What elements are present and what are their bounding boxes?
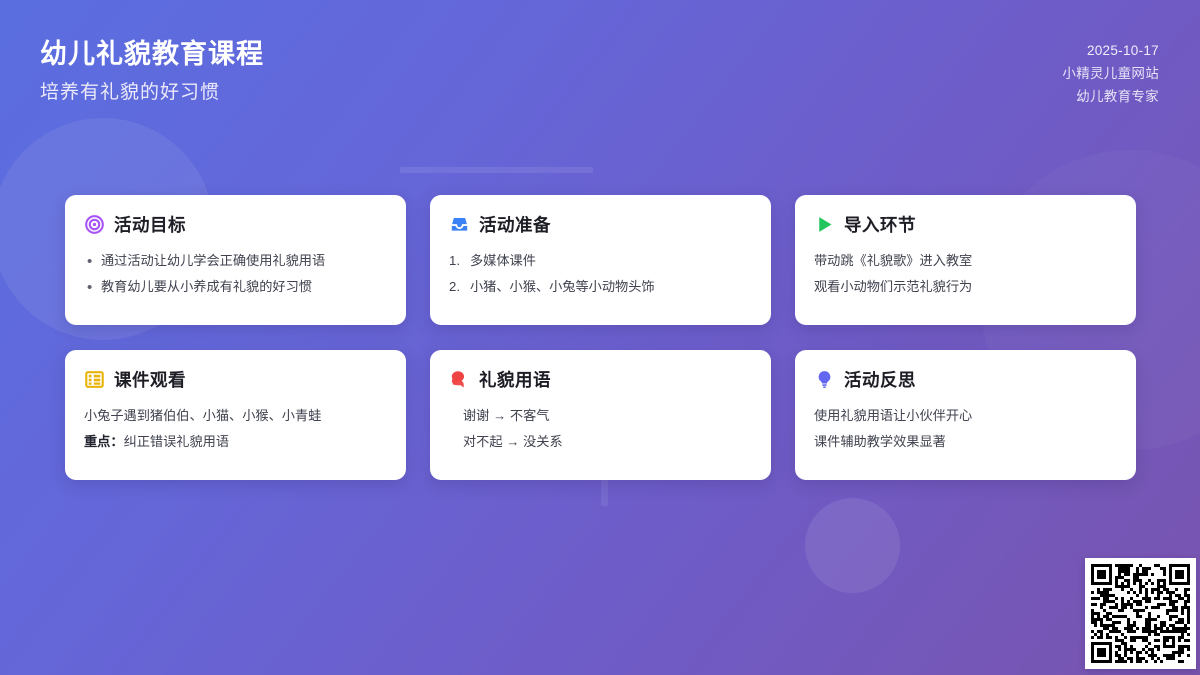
card-header: 课件观看	[84, 367, 387, 392]
card-title: 活动目标	[114, 212, 186, 237]
card-list: 通过活动让幼儿学会正确使用礼貌用语教育幼儿要从小养成有礼貌的好习惯	[84, 248, 387, 299]
chat-bubbles-icon	[449, 369, 470, 390]
card-title: 导入环节	[844, 212, 916, 237]
page-title: 幼儿礼貌教育课程	[40, 38, 264, 72]
qr-code	[1091, 564, 1190, 663]
card-title: 活动准备	[479, 212, 551, 237]
card-title: 礼貌用语	[479, 367, 551, 392]
emphasis-label: 重点：	[84, 434, 124, 449]
header-meta: 2025-10-17 小精灵儿童网站 幼儿教育专家	[1062, 39, 1159, 109]
page-subtitle: 培养有礼貌的好习惯	[40, 81, 264, 105]
target-icon	[84, 214, 105, 235]
card-text-line: 小兔子遇到猪伯伯、小猫、小猴、小青蛙	[84, 403, 387, 429]
card-emphasis-line: 重点：纠正错误礼貌用语	[84, 429, 387, 455]
card-courseware[interactable]: 课件观看小兔子遇到猪伯伯、小猫、小猴、小青蛙重点：纠正错误礼貌用语	[65, 350, 406, 480]
decor-bar-vertical	[601, 480, 608, 506]
list-item: 小猪、小猴、小兔等小动物头饰	[449, 274, 752, 300]
decor-circle-bottom-center	[805, 498, 900, 593]
meta-site: 小精灵儿童网站	[1062, 62, 1159, 85]
card-list: 多媒体课件小猪、小猴、小兔等小动物头饰	[449, 248, 752, 299]
card-header: 活动目标	[84, 212, 387, 237]
card-header: 导入环节	[814, 212, 1117, 237]
card-header: 活动反思	[814, 367, 1117, 392]
card-text-line: 带动跳《礼貌歌》进入教室	[814, 248, 1117, 274]
card-text-line: 对不起 → 没关系	[463, 429, 752, 455]
card-introduction[interactable]: 导入环节带动跳《礼貌歌》进入教室观看小动物们示范礼貌行为	[795, 195, 1136, 325]
card-text-line: 使用礼貌用语让小伙伴开心	[814, 403, 1117, 429]
card-grid: 活动目标通过活动让幼儿学会正确使用礼貌用语教育幼儿要从小养成有礼貌的好习惯 活动…	[65, 195, 1138, 480]
inbox-icon	[449, 214, 470, 235]
emphasis-text: 纠正错误礼貌用语	[124, 434, 230, 449]
list-item: 通过活动让幼儿学会正确使用礼貌用语	[84, 248, 387, 274]
card-body: 小兔子遇到猪伯伯、小猫、小猴、小青蛙重点：纠正错误礼貌用语	[84, 403, 387, 454]
list-item: 教育幼儿要从小养成有礼貌的好习惯	[84, 274, 387, 300]
card-reflection[interactable]: 活动反思使用礼貌用语让小伙伴开心课件辅助教学效果显著	[795, 350, 1136, 480]
slide-header: 幼儿礼貌教育课程 培养有礼貌的好习惯 2025-10-17 小精灵儿童网站 幼儿…	[0, 0, 1200, 170]
card-header: 活动准备	[449, 212, 752, 237]
play-icon	[814, 214, 835, 235]
card-polite-phrases[interactable]: 礼貌用语谢谢 → 不客气对不起 → 没关系	[430, 350, 771, 480]
card-text-line: 观看小动物们示范礼貌行为	[814, 274, 1117, 300]
card-title: 活动反思	[844, 367, 916, 392]
card-header: 礼貌用语	[449, 367, 752, 392]
card-objectives[interactable]: 活动目标通过活动让幼儿学会正确使用礼貌用语教育幼儿要从小养成有礼貌的好习惯	[65, 195, 406, 325]
list-item: 多媒体课件	[449, 248, 752, 274]
qr-code-container[interactable]	[1085, 558, 1196, 669]
card-body: 带动跳《礼貌歌》进入教室观看小动物们示范礼貌行为	[814, 248, 1117, 299]
lightbulb-icon	[814, 369, 835, 390]
card-text-line: 谢谢 → 不客气	[463, 403, 752, 429]
card-body: 使用礼貌用语让小伙伴开心课件辅助教学效果显著	[814, 403, 1117, 454]
card-body: 多媒体课件小猪、小猴、小兔等小动物头饰	[449, 248, 752, 299]
meta-date: 2025-10-17	[1062, 39, 1159, 62]
meta-author: 幼儿教育专家	[1062, 85, 1159, 108]
slide-canvas: 幼儿礼貌教育课程 培养有礼貌的好习惯 2025-10-17 小精灵儿童网站 幼儿…	[0, 0, 1200, 675]
card-body: 谢谢 → 不客气对不起 → 没关系	[449, 403, 752, 454]
title-block: 幼儿礼貌教育课程 培养有礼貌的好习惯	[40, 38, 264, 105]
card-title: 课件观看	[114, 367, 186, 392]
film-icon	[84, 369, 105, 390]
card-preparation[interactable]: 活动准备多媒体课件小猪、小猴、小兔等小动物头饰	[430, 195, 771, 325]
card-text-line: 课件辅助教学效果显著	[814, 429, 1117, 455]
card-body: 通过活动让幼儿学会正确使用礼貌用语教育幼儿要从小养成有礼貌的好习惯	[84, 248, 387, 299]
